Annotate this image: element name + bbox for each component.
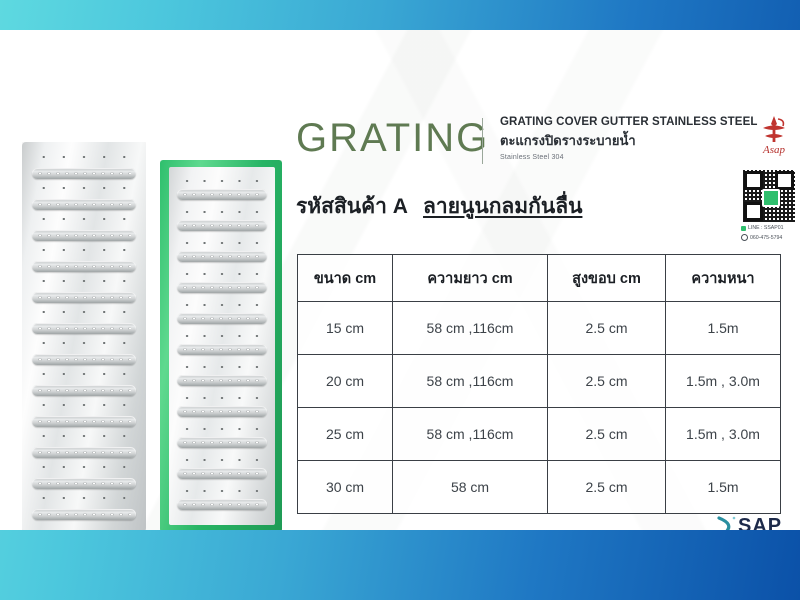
grating-slot-row [177,189,266,200]
product-photo-green-frame [160,160,282,530]
brand-wordmark: GRATING [296,114,489,162]
sap-wordmark: SAP [738,515,782,530]
grating-slot-row [177,282,266,293]
grating-plate [169,167,275,525]
cell-edge: 2.5 cm [548,408,666,461]
grating-slot-row [32,168,136,179]
grating-slot-row [177,344,266,355]
logo-script-text: Asap [752,144,796,156]
product-pattern-label: ลายนูนกลมกันลื่น [423,195,582,218]
qr-contact-block: LINE : SSAP01 060-475-5794 [741,170,797,241]
header-title-th: ตะแกรงปิดรางระบายน้ำ [500,130,750,151]
grating-slot-row [32,416,136,427]
header-divider [482,118,483,164]
line-icon [741,226,746,231]
line-contact-row[interactable]: LINE : SSAP01 [741,225,797,231]
cell-size: 20 cm [298,355,393,408]
qr-finder-top-right [775,171,794,190]
red-emblem-icon [752,114,796,146]
grating-slot-row [177,499,266,510]
phone-contact-row[interactable]: 060-475-5794 [741,234,797,241]
grating-slot-row [32,478,136,489]
cell-length: 58 cm ,116cm [393,408,548,461]
grating-slot-row [177,251,266,262]
cell-length: 58 cm ,116cm [393,355,548,408]
grating-slot-row [32,354,136,365]
column-header-edge: สูงขอบ cm [548,255,666,302]
company-logo-mark: Asap [752,114,796,162]
phone-icon [741,234,748,241]
poster-canvas: GRATING GRATING COVER GUTTER STAINLESS S… [0,0,800,600]
cell-thickness: 1.5m [666,302,781,355]
cell-edge: 2.5 cm [548,461,666,514]
column-header-size: ขนาด cm [298,255,393,302]
grating-slot-row [32,292,136,303]
poster-header: GRATING GRATING COVER GUTTER STAINLESS S… [296,114,766,174]
qr-center-logo [762,189,780,207]
grating-slot-row [177,437,266,448]
grating-slot-row [32,230,136,241]
column-header-length: ความยาว cm [393,255,548,302]
grating-slot-row [32,199,136,210]
cell-edge: 2.5 cm [548,302,666,355]
grating-slot-row [32,509,136,520]
product-code-label: รหัสสินค้า A [296,195,407,218]
table-row: 25 cm 58 cm ,116cm 2.5 cm 1.5m , 3.0m [298,408,781,461]
grating-slot-row [32,323,136,334]
qr-code[interactable] [743,170,795,222]
cell-length: 58 cm [393,461,548,514]
product-code-heading: รหัสสินค้า A ลายนูนกลมกันลื่น [296,190,582,223]
cell-length: 58 cm ,116cm [393,302,548,355]
line-id-label: LINE : SSAP01 [748,225,783,231]
cell-edge: 2.5 cm [548,355,666,408]
qr-finder-bottom-left [744,202,763,221]
table-header-row: ขนาด cm ความยาว cm สูงขอบ cm ความหนา [298,255,781,302]
grating-slot-row [177,313,266,324]
grating-slot-row [32,385,136,396]
grating-slot-row [177,375,266,386]
specification-table: ขนาด cm ความยาว cm สูงขอบ cm ความหนา 15 … [297,254,781,514]
header-title-en: GRATING COVER GUTTER STAINLESS STEEL [500,116,750,128]
cell-size: 30 cm [298,461,393,514]
cell-thickness: 1.5m , 3.0m [666,408,781,461]
cell-thickness: 1.5m , 3.0m [666,355,781,408]
content-sheet: GRATING GRATING COVER GUTTER STAINLESS S… [0,30,800,530]
cell-size: 15 cm [298,302,393,355]
sap-footer-logo: SAP STAINLESS STEEL [714,514,790,530]
grating-slot-row [32,447,136,458]
table-row: 15 cm 58 cm ,116cm 2.5 cm 1.5m [298,302,781,355]
header-material-note: Stainless Steel 304 [500,154,750,161]
column-header-thickness: ความหนา [666,255,781,302]
grating-slot-row [177,468,266,479]
grating-slot-row [177,406,266,417]
table-row: 30 cm 58 cm 2.5 cm 1.5m [298,461,781,514]
grating-slot-row [32,261,136,272]
phone-number-label: 060-475-5794 [750,235,782,241]
product-photo-stainless [22,142,146,530]
cell-thickness: 1.5m [666,461,781,514]
grating-slot-row [177,220,266,231]
cell-size: 25 cm [298,408,393,461]
qr-finder-top-left [744,171,763,190]
header-text-block: GRATING COVER GUTTER STAINLESS STEEL ตะแ… [500,116,750,161]
table-row: 20 cm 58 cm ,116cm 2.5 cm 1.5m , 3.0m [298,355,781,408]
